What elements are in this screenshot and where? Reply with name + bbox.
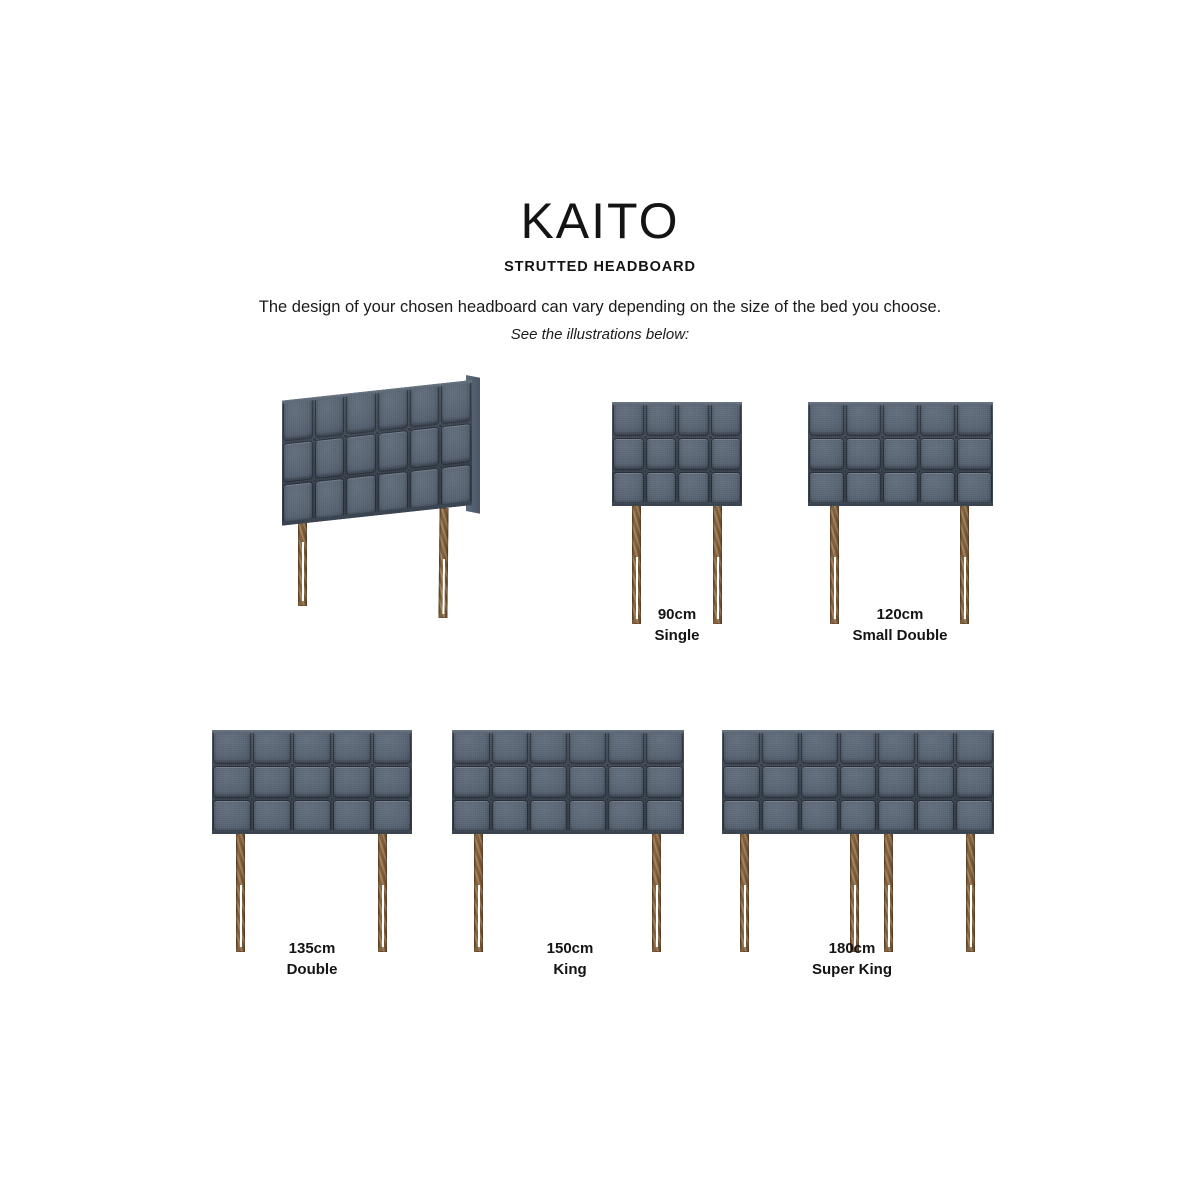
headboard-panel-cushion — [763, 801, 798, 832]
headboard-panel — [568, 730, 607, 765]
headboard-panel — [529, 799, 568, 834]
strut-adjustment-slot — [302, 542, 304, 601]
headboard-panel — [645, 765, 684, 800]
headboard-panel-cushion — [841, 801, 876, 832]
label-super-king-name: Super King — [772, 959, 932, 980]
headboard-panel-cushion — [374, 767, 410, 798]
headboard-panel — [645, 471, 678, 506]
product-subtitle: STRUTTED HEADBOARD — [0, 259, 1200, 275]
headboard-panel — [877, 730, 916, 765]
headboard-panel — [645, 730, 684, 765]
label-super-king-size: 180cm — [829, 940, 876, 957]
headboard-panel — [607, 799, 646, 834]
label-single-size: 90cm — [658, 606, 696, 623]
headboard-strut-2 — [438, 508, 448, 618]
headboard-panel-cushion — [531, 801, 566, 832]
headboard-king-panel-grid — [452, 730, 684, 834]
headboard-panel-cushion — [879, 732, 914, 763]
headboard-panel-cushion — [847, 404, 880, 435]
headboard-panel-cushion — [347, 393, 375, 434]
headboard-front-face — [282, 380, 472, 526]
headboard-panel — [345, 432, 377, 477]
headboard-variant-king — [452, 730, 684, 960]
headboard-panel-cushion — [841, 767, 876, 798]
headboard-panel-cushion — [763, 732, 798, 763]
headboard-panel-cushion — [284, 399, 312, 440]
headboard-panel — [452, 730, 491, 765]
headboard-panel — [808, 437, 845, 472]
headboard-panel — [645, 402, 678, 437]
label-super-king: 180cm Super King — [772, 938, 932, 981]
headboard-panel-cushion — [614, 404, 643, 435]
headboard-panel-cushion — [884, 439, 917, 470]
headboard-panel — [377, 387, 409, 432]
headboard-panel — [332, 799, 372, 834]
headboard-panel-cushion — [884, 404, 917, 435]
headboard-panel — [808, 471, 845, 506]
headboard-panel-cushion — [454, 801, 489, 832]
headboard-perspective-illustration — [276, 368, 506, 628]
headboard-panel — [839, 765, 878, 800]
headboard-panel — [409, 467, 441, 512]
headboard-panel-cushion — [679, 404, 708, 435]
headboard-panel — [845, 471, 882, 506]
headboard-panel-cushion — [918, 801, 953, 832]
headboard-panel-cushion — [712, 439, 741, 470]
headboard-panel-cushion — [614, 473, 643, 504]
headboard-panel-cushion — [316, 438, 344, 479]
headboard-panel-cushion — [847, 473, 880, 504]
headboard-panel-cushion — [847, 439, 880, 470]
headboard-panel-cushion — [921, 404, 954, 435]
label-double-size: 135cm — [289, 940, 336, 957]
headboard-panel — [440, 463, 472, 508]
headboard-panel — [882, 471, 919, 506]
headboard-panel-cushion — [724, 767, 759, 798]
headboard-panel — [372, 765, 412, 800]
headboard-panel — [332, 730, 372, 765]
headboard-panel-cushion — [647, 732, 682, 763]
headboard-panel-cushion — [802, 767, 837, 798]
headboard-panel-cushion — [454, 732, 489, 763]
headboard-panel-cushion — [442, 424, 470, 465]
headboard-variant-double — [212, 730, 412, 960]
headboard-panel-cushion — [679, 439, 708, 470]
headboard-panel — [332, 765, 372, 800]
headboard-panel — [956, 437, 993, 472]
headboard-panel-cushion — [609, 732, 644, 763]
headboard-panel — [761, 765, 800, 800]
headboard-super-king-panel-grid — [722, 730, 994, 834]
headboard-panel — [800, 730, 839, 765]
headboard-perspective — [276, 368, 506, 628]
headboard-panel — [955, 799, 994, 834]
headboard-panel-cushion — [712, 473, 741, 504]
headboard-panel-cushion — [531, 767, 566, 798]
headboard-panel-cushion — [884, 473, 917, 504]
headboard-panel — [212, 799, 252, 834]
headboard-panel-cushion — [724, 732, 759, 763]
headboard-panel-cushion — [493, 801, 528, 832]
label-double-name: Double — [232, 959, 392, 980]
headboard-panel-cushion — [724, 801, 759, 832]
headboard-panel — [845, 402, 882, 437]
headboard-panel — [919, 437, 956, 472]
headboard-panel-cushion — [802, 732, 837, 763]
headboard-panel-cushion — [294, 767, 330, 798]
headboard-panel-cushion — [284, 441, 312, 482]
headboard-panel — [491, 730, 530, 765]
headboard-panel — [955, 765, 994, 800]
headboard-panel — [877, 799, 916, 834]
headboard-panel — [607, 765, 646, 800]
headboard-strut-1 — [740, 828, 749, 952]
headboard-panel — [529, 765, 568, 800]
headboard-panel — [722, 799, 761, 834]
headboard-strut-2 — [850, 828, 859, 952]
headboard-panel — [292, 765, 332, 800]
headboard-panel-cushion — [841, 732, 876, 763]
headboard-panel — [440, 422, 472, 467]
headboard-panel — [568, 765, 607, 800]
headboard-panel-cushion — [810, 404, 843, 435]
headboard-panel-cushion — [379, 472, 407, 513]
headboard-panel — [292, 730, 332, 765]
strut-adjustment-slot — [442, 559, 445, 614]
headboard-panel — [529, 730, 568, 765]
headboard-double-panel-grid — [212, 730, 412, 834]
headboard-panel-cushion — [609, 767, 644, 798]
headboard-panel — [882, 437, 919, 472]
headboard-panel — [839, 730, 878, 765]
headboard-panel — [314, 477, 346, 522]
headboard-panel-cushion — [214, 767, 250, 798]
label-king-size: 150cm — [547, 940, 594, 957]
headboard-panel-cushion — [614, 439, 643, 470]
headboard-panel-cushion — [411, 469, 439, 510]
label-single-name: Single — [597, 625, 757, 646]
headboard-variant-single — [612, 402, 742, 632]
headboard-panel-cushion — [374, 732, 410, 763]
headboard-panel-cushion — [958, 439, 991, 470]
headboard-panel-cushion — [570, 801, 605, 832]
product-size-guide-page: KAITO STRUTTED HEADBOARD The design of y… — [0, 0, 1200, 1200]
page-header: KAITO STRUTTED HEADBOARD The design of y… — [0, 196, 1200, 343]
headboard-panel-cushion — [647, 767, 682, 798]
headboard-panel-cushion — [334, 732, 370, 763]
headboard-panel — [761, 730, 800, 765]
headboard-panel-cushion — [379, 431, 407, 472]
headboard-panel — [282, 481, 314, 526]
headboard-panel-cushion — [918, 732, 953, 763]
headboard-panel — [919, 402, 956, 437]
headboard-panel — [212, 730, 252, 765]
headboard-panel — [882, 402, 919, 437]
headboard-panel-cushion — [531, 732, 566, 763]
headboard-panel — [452, 799, 491, 834]
headboard-panel-cushion — [294, 801, 330, 832]
headboard-panel — [919, 471, 956, 506]
headboard-panel-cushion — [958, 473, 991, 504]
headboard-strut-2 — [652, 828, 661, 952]
headboard-panel-cushion — [454, 767, 489, 798]
headboard-panel — [677, 402, 710, 437]
headboard-panel — [877, 765, 916, 800]
headboard-panel — [916, 799, 955, 834]
label-small-double-name: Small Double — [820, 625, 980, 646]
headboard-panel-cushion — [918, 767, 953, 798]
intro-text: The design of your chosen headboard can … — [0, 297, 1200, 318]
headboard-panel-cushion — [763, 767, 798, 798]
headboard-panel — [377, 470, 409, 515]
headboard-panel — [808, 402, 845, 437]
headboard-panel-cushion — [958, 404, 991, 435]
headboard-panel — [956, 471, 993, 506]
strut-adjustment-slot — [656, 885, 658, 947]
headboard-panel — [372, 730, 412, 765]
headboard-panel-cushion — [214, 732, 250, 763]
headboard-strut-1 — [236, 828, 245, 952]
headboard-panel — [645, 799, 684, 834]
headboard-panel — [372, 799, 412, 834]
headboard-panel — [282, 397, 314, 442]
headboard-panel-cushion — [374, 801, 410, 832]
headboard-panel — [282, 439, 314, 484]
intro-italic-text: See the illustrations below: — [0, 326, 1200, 343]
headboard-panel — [761, 799, 800, 834]
headboard-single-panel-grid — [612, 402, 742, 506]
headboard-panel-cushion — [802, 801, 837, 832]
headboard-strut-4 — [966, 828, 975, 952]
headboard-panel — [345, 390, 377, 435]
headboard-panel — [212, 765, 252, 800]
headboard-panel — [314, 435, 346, 480]
headboard-panel — [839, 799, 878, 834]
headboard-panel — [252, 765, 292, 800]
headboard-panel-cushion — [442, 466, 470, 507]
headboard-panel-cushion — [214, 801, 250, 832]
headboard-panel — [252, 730, 292, 765]
headboard-panel-cushion — [411, 386, 439, 427]
headboard-panel-cushion — [647, 439, 676, 470]
headboard-panel — [440, 380, 472, 425]
headboard-panel-cushion — [810, 439, 843, 470]
label-single: 90cm Single — [597, 604, 757, 647]
label-small-double: 120cm Small Double — [820, 604, 980, 647]
headboard-panel-cushion — [294, 732, 330, 763]
label-king: 150cm King — [490, 938, 650, 981]
headboard-panel — [345, 474, 377, 519]
strut-adjustment-slot — [478, 885, 480, 947]
headboard-panel-cushion — [254, 732, 290, 763]
headboard-panel-cushion — [712, 404, 741, 435]
headboard-panel — [710, 402, 743, 437]
headboard-panel — [710, 437, 743, 472]
headboard-small-double-panel-grid — [808, 402, 993, 506]
headboard-panel-cushion — [316, 396, 344, 437]
headboard-panel — [722, 730, 761, 765]
headboard-panel-cushion — [647, 473, 676, 504]
headboard-panel-cushion — [493, 767, 528, 798]
headboard-panel — [710, 471, 743, 506]
headboard-panel-cushion — [957, 767, 992, 798]
headboard-variant-super-king — [722, 730, 994, 960]
label-small-double-size: 120cm — [877, 606, 924, 623]
headboard-panel — [409, 425, 441, 470]
headboard-panel-cushion — [957, 801, 992, 832]
headboard-panel-cushion — [254, 801, 290, 832]
headboard-panel-cushion — [647, 404, 676, 435]
headboard-panel-cushion — [254, 767, 290, 798]
headboard-panel — [252, 799, 292, 834]
headboard-panel-cushion — [334, 801, 370, 832]
headboard-panel-cushion — [347, 476, 375, 517]
headboard-panel — [491, 799, 530, 834]
headboard-panel — [568, 799, 607, 834]
label-double: 135cm Double — [232, 938, 392, 981]
headboard-panel — [677, 437, 710, 472]
headboard-panel-cushion — [334, 767, 370, 798]
headboard-panel — [607, 730, 646, 765]
headboard-panel-cushion — [379, 389, 407, 430]
headboard-panel — [800, 799, 839, 834]
headboard-panel — [612, 471, 645, 506]
headboard-panel — [612, 437, 645, 472]
headboard-panel — [722, 765, 761, 800]
headboard-panel — [800, 765, 839, 800]
headboard-panel — [956, 402, 993, 437]
headboard-panel — [377, 429, 409, 474]
headboard-panel-cushion — [316, 479, 344, 520]
headboard-panel — [452, 765, 491, 800]
headboard-panel-cushion — [921, 439, 954, 470]
headboard-panel-cushion — [411, 427, 439, 468]
headboard-panel-cushion — [810, 473, 843, 504]
headboard-panel-cushion — [609, 801, 644, 832]
headboard-panel-cushion — [879, 801, 914, 832]
headboard-panel-cushion — [879, 767, 914, 798]
headboard-panel-cushion — [347, 434, 375, 475]
headboard-panel-cushion — [442, 382, 470, 423]
headboard-panel — [677, 471, 710, 506]
headboard-panel — [645, 437, 678, 472]
headboard-panel-cushion — [284, 483, 312, 524]
headboard-panel — [491, 765, 530, 800]
headboard-panel — [409, 383, 441, 428]
headboard-panel — [314, 394, 346, 439]
headboard-variant-small-double — [808, 402, 993, 632]
headboard-panel — [955, 730, 994, 765]
headboard-panel-cushion — [570, 767, 605, 798]
headboard-perspective-panel-grid — [282, 380, 472, 526]
headboard-panel-cushion — [647, 801, 682, 832]
strut-adjustment-slot — [970, 885, 972, 947]
headboard-panel-cushion — [957, 732, 992, 763]
headboard-panel — [845, 437, 882, 472]
page-title: KAITO — [0, 196, 1200, 246]
strut-adjustment-slot — [744, 885, 746, 947]
headboard-panel-cushion — [493, 732, 528, 763]
headboard-panel-cushion — [679, 473, 708, 504]
headboard-strut-1 — [474, 828, 483, 952]
headboard-strut-3 — [884, 828, 893, 952]
headboard-panel — [916, 730, 955, 765]
headboard-panel — [292, 799, 332, 834]
headboard-panel — [612, 402, 645, 437]
headboard-panel — [916, 765, 955, 800]
headboard-panel-cushion — [570, 732, 605, 763]
label-king-name: King — [490, 959, 650, 980]
headboard-panel-cushion — [921, 473, 954, 504]
headboard-strut-2 — [378, 828, 387, 952]
